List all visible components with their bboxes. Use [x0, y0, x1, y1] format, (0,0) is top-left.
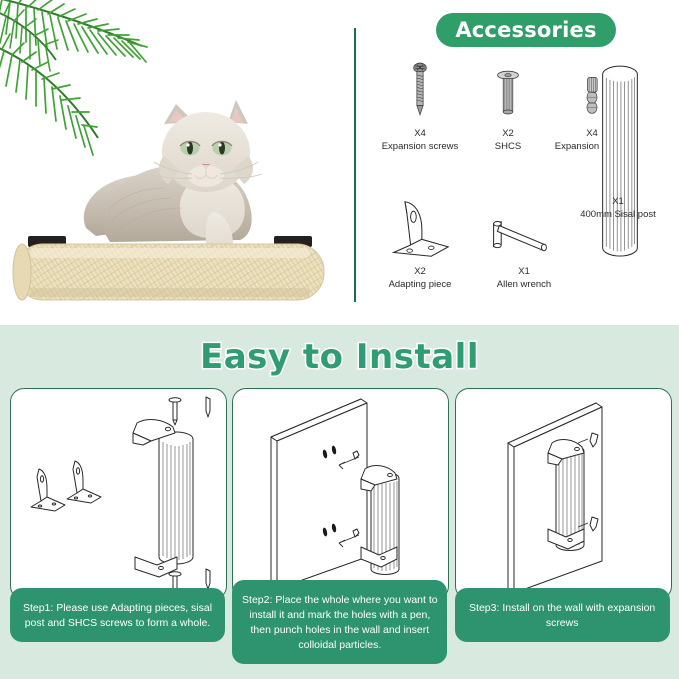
accessory-name: 400mm Sisal post	[576, 209, 660, 222]
step-card-3: Step3: Install on the wall with expansio…	[455, 388, 669, 666]
accessory-name: Adapting piece	[378, 279, 462, 292]
section-divider	[354, 28, 356, 302]
install-title: Easy to Install	[0, 337, 679, 377]
step-card-1: Step1: Please use Adapting pieces, sisal…	[10, 388, 224, 666]
step-2-caption: Step2: Place the whole where you want to…	[232, 580, 447, 664]
accessories-badge: Accessories	[436, 13, 616, 47]
step-1-caption: Step1: Please use Adapting pieces, sisal…	[10, 588, 225, 642]
accessory-shcs: X2 SHCS	[466, 52, 550, 154]
shcs-bolt-icon	[466, 52, 550, 122]
allen-wrench-icon	[472, 190, 576, 260]
sisal-post-icon	[590, 52, 650, 270]
sisal-post-illustration	[590, 52, 650, 270]
step-1-diagram	[10, 388, 227, 600]
step-card-2: Step2: Place the whole where you want to…	[232, 388, 446, 666]
top-section: Accessories	[0, 0, 679, 325]
install-section: Easy to Install	[0, 325, 679, 679]
accessory-name: Allen wrench	[472, 279, 576, 292]
product-infographic: Accessories	[0, 0, 679, 679]
expansion-screw-icon	[378, 52, 462, 122]
accessory-qty: X1	[472, 266, 576, 279]
accessory-name: Expansion screws	[378, 141, 462, 154]
accessories-badge-label: Accessories	[455, 18, 596, 42]
accessories-panel: Accessories	[362, 0, 679, 325]
accessory-adapting-piece: X2 Adapting piece	[378, 190, 462, 292]
accessory-sisal-post: X1 400mm Sisal post	[576, 190, 660, 222]
step-3-diagram	[455, 388, 672, 600]
adapting-bracket-icon	[378, 190, 462, 260]
steps-row: Step1: Please use Adapting pieces, sisal…	[10, 388, 669, 666]
accessory-allen-wrench: X1 Allen wrench	[472, 190, 576, 292]
accessory-qty: X4	[378, 128, 462, 141]
step-3-caption: Step3: Install on the wall with expansio…	[455, 588, 670, 642]
step-2-diagram	[232, 388, 449, 600]
accessory-qty: X1	[576, 196, 660, 209]
accessory-qty: X2	[466, 128, 550, 141]
product-photo	[0, 60, 340, 310]
accessory-expansion-screws: X4 Expansion screws	[378, 52, 462, 154]
accessory-qty: X2	[378, 266, 462, 279]
accessory-name: SHCS	[466, 141, 550, 154]
